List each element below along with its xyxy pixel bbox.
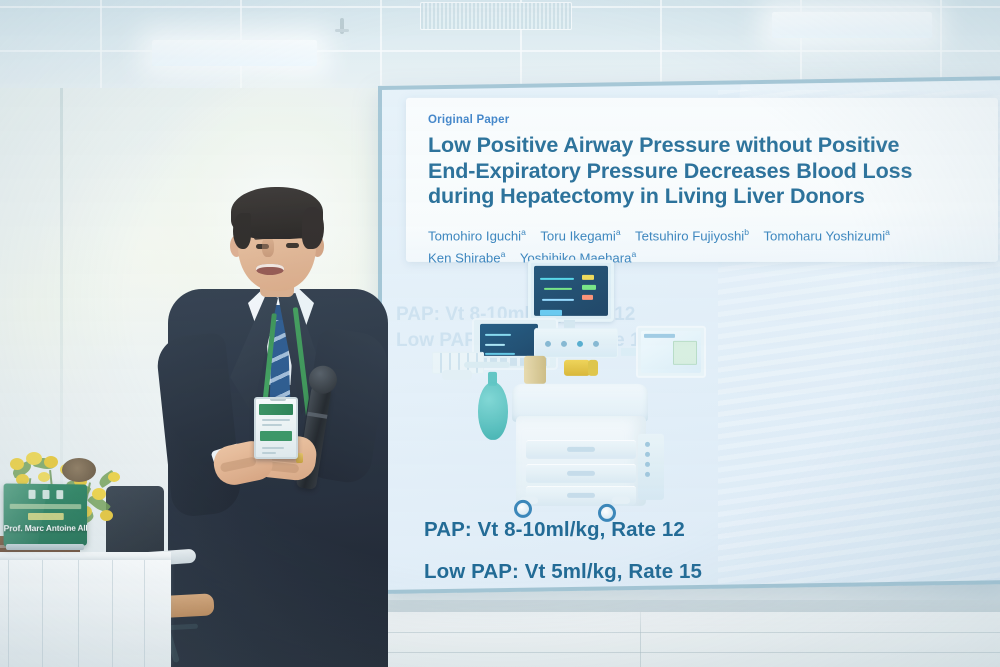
ceiling-light-left [152, 40, 317, 66]
author-name: Tetsuhiro Fujiyoshi [635, 228, 744, 243]
author-name: Toru Ikegami [540, 228, 616, 243]
nose [262, 237, 274, 257]
presentation-photo-scene: Original Paper Low Positive Airway Press… [0, 0, 1000, 667]
caster-wheel-left [514, 500, 532, 518]
slide-kicker-label: Original Paper [428, 114, 978, 126]
skirted-table [0, 560, 171, 667]
conference-badge [254, 397, 298, 459]
author-name: Tomoharu Yoshizumi [763, 228, 885, 243]
placard-logos [29, 490, 64, 499]
slide-bullet-2: Low PAP: Vt 5ml/kg, Rate 15 [424, 560, 702, 584]
author-affiliation-mark: a [885, 226, 890, 236]
author-row-1: Tomohiro Iguchia Toru Ikegamia Tetsuhiro… [428, 222, 978, 245]
placard-stand [6, 544, 84, 550]
slide-title-card: Original Paper Low Positive Airway Press… [406, 98, 998, 262]
slide-title-line-3: during Hepatectomy in Living Liver Donor… [428, 184, 978, 210]
air-vent-icon [420, 2, 572, 30]
wall-corner-seam [60, 88, 63, 508]
slide-title-line-1: Low Positive Airway Pressure without Pos… [428, 133, 978, 159]
mouth [256, 264, 284, 275]
name-placard: Prof. Marc Antoine Allard [4, 483, 87, 546]
placard-name: Prof. Marc Antoine Allard [4, 523, 87, 533]
slide-bullet-1: PAP: Vt 8-10ml/kg, Rate 12 [424, 518, 685, 542]
author-affiliation-mark: a [521, 226, 526, 236]
hair-side [302, 207, 324, 249]
ceiling-light-right [772, 12, 932, 38]
anesthesia-touchscreen-icon [636, 326, 706, 378]
succulent-decor [62, 458, 96, 482]
author-affiliation-mark: b [744, 226, 749, 236]
slide-title-line-2: End-Expiratory Pressure Decreases Blood … [428, 158, 978, 184]
breathing-bag-icon [478, 382, 508, 440]
projection-screen: Original Paper Low Positive Airway Press… [378, 76, 1000, 594]
wall-glow-quaternary [0, 208, 140, 408]
author-affiliation-mark: a [616, 226, 621, 236]
author-name: Tomohiro Iguchi [428, 228, 521, 243]
patient-monitor-icon [528, 260, 614, 322]
anesthesia-machine-figure [416, 256, 746, 518]
slide-title: Low Positive Airway Pressure without Pos… [428, 133, 978, 210]
sprinkler-head-icon [340, 18, 344, 34]
